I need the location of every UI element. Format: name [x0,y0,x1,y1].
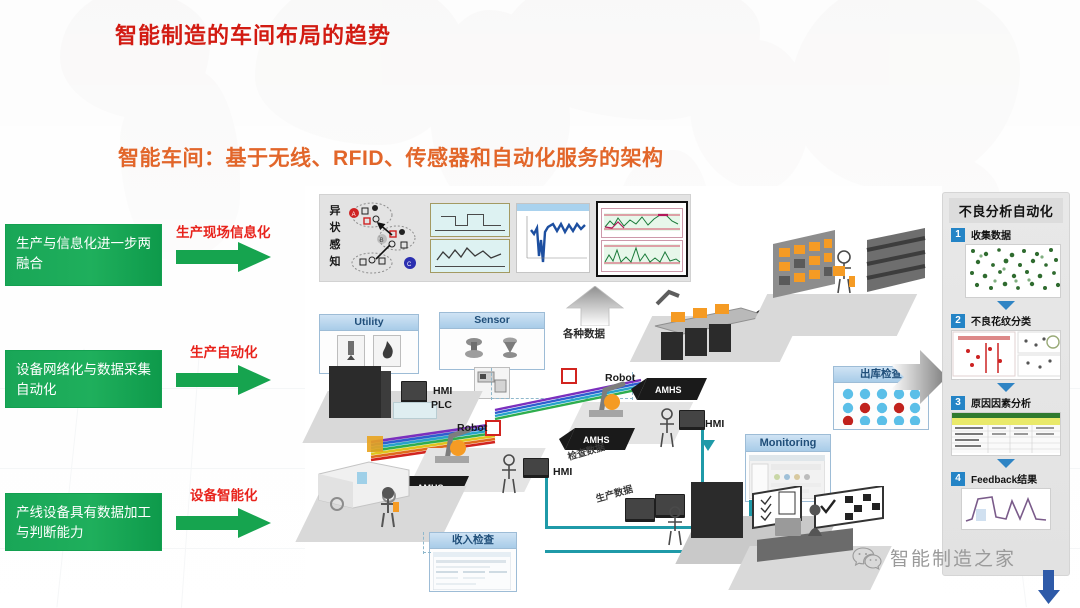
green-arrow-3 [176,506,272,540]
green-box-2-text: 设备网络化与数据采集自动化 [16,362,151,397]
teal-arrow-down [701,438,715,452]
defect-analysis-panel: 不良分析自动化 1 收集数据 [942,192,1070,576]
anomaly-sensing-band: 异状感知 A B C [319,194,691,282]
equipment-3 [709,324,731,352]
amhs-banner-3: AMHS [629,376,707,402]
operator-4 [805,504,825,538]
incoming-connector-h [423,552,431,554]
svg-text:B: B [380,238,384,244]
dual-control-chart [596,201,688,277]
utility-panel-title: Utility [320,315,418,331]
blue-chart-header [517,204,589,211]
svg-text:A: A [352,212,356,218]
step-2-image [951,330,1061,380]
step-1-image [965,244,1061,298]
watermark: 智能制造之家 [852,544,1016,571]
operator-2 [657,408,677,448]
svg-text:AMHS: AMHS [655,385,682,395]
step-1-number: 1 [951,228,965,242]
monitoring-panel-title: Monitoring [746,435,830,452]
operator-1 [499,454,519,494]
svg-text:C: C [407,262,412,268]
step-3-image [951,412,1061,456]
sensor-panel: Sensor [439,312,545,370]
hmi-label-2: HMI [553,466,572,478]
analysis-step-4[interactable]: 4 Feedback结果 [951,471,1061,530]
analysis-step-2[interactable]: 2 不良花纹分类 [951,313,1061,392]
green-box-3: 产线设备具有数据加工与判断能力 [5,493,162,551]
green-box-1-text: 生产与信息化进一步两融合 [16,236,151,271]
step-3-label: 原因因素分析 [971,395,1031,410]
server-rack [691,482,743,538]
arrow-label-1: 生产现场信息化 [176,221,271,241]
desk-laptop [775,518,801,536]
sensor-panel-title: Sensor [440,313,544,329]
teal-flow-vertical-1 [545,478,548,528]
step-4-image [961,488,1051,530]
utility-panel: Utility [319,314,419,374]
blue-timeseries-chart [516,203,590,273]
watermark-text: 智能制造之家 [890,544,1016,571]
report-screenshot [433,552,511,590]
corner-arrow-icon [1038,570,1060,604]
server-monitor-1 [625,498,655,522]
arrow-label-3: 设备智能化 [190,484,258,504]
analysis-panel-title: 不良分析自动化 [949,198,1063,223]
delivery-truck [313,452,421,514]
analysis-step-1[interactable]: 1 收集数据 [951,227,1061,310]
slide-canvas: 智能制造的车间布局的趋势 智能车间：基于无线、RFID、传感器和自动化服务的架构… [0,0,1080,608]
flame-icon [373,335,401,367]
storage-rack-dark [861,226,943,300]
wechat-icon [852,546,882,570]
warehouse-worker [833,250,855,294]
operator-3 [665,506,685,546]
incoming-connector-v [423,532,426,554]
step-2-number: 2 [951,314,965,328]
green-arrow-2 [176,363,272,397]
step-arrow-3 [997,459,1015,468]
various-data-arrow [565,286,625,326]
step-arrow-1 [997,301,1015,310]
factory-diagram: 异状感知 A B C [305,186,942,608]
hmi-monitor-2 [523,458,549,478]
gas-icon [337,335,365,367]
step-1-label: 收集数据 [971,227,1011,242]
step-4-label: Feedback结果 [971,471,1037,486]
rfid-tag-2 [561,368,577,384]
step-2-label: 不良花纹分类 [971,313,1031,328]
incoming-inspection-title: 收入检查 [430,533,516,549]
step-4-number: 4 [951,472,965,486]
step-3-number: 3 [951,396,965,410]
step-signal-chart [430,203,510,237]
page-title: 智能制造的车间布局的趋势 [115,18,391,50]
hmi-monitor-1 [401,381,427,403]
page-subtitle: 智能车间：基于无线、RFID、传感器和自动化服务的架构 [118,142,664,172]
hmi-label-1: HMI [433,385,452,397]
step-arrow-2 [997,383,1015,392]
sensor-b-icon [496,333,524,363]
to-analysis-arrow [890,346,948,408]
equipment-1 [661,332,683,360]
green-arrow-1 [176,240,272,274]
anomaly-sensing-title: 异状感知 [326,203,344,271]
green-box-1: 生产与信息化进一步两融合 [5,224,162,286]
analysis-step-3[interactable]: 3 原因因素分析 [951,395,1061,468]
dock-worker [377,486,399,528]
wave-chart [430,239,510,273]
incoming-inspection-panel: 收入检查 [429,532,517,592]
sensor-network-graph: A B C [348,201,420,275]
green-box-2: 设备网络化与数据采集自动化 [5,350,162,408]
sensor-a-icon [460,333,488,363]
hmi-monitor-3 [679,410,705,430]
hmi-label-3: HMI [705,418,724,430]
equipment-2 [685,328,707,356]
arrow-label-2: 生产自动化 [190,341,258,361]
robot-label-1: Robot [457,422,487,434]
various-data-label: 各种数据 [563,326,605,341]
green-box-3-text: 产线设备具有数据加工与判断能力 [16,505,151,540]
